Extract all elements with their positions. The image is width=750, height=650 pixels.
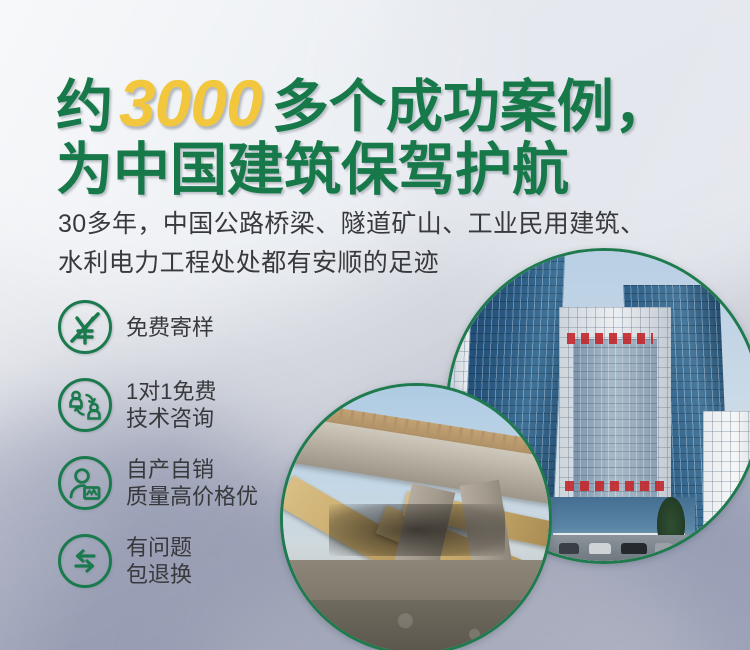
headline-prefix: 约 bbox=[56, 78, 113, 136]
feature-list: 免费寄样 1对1免费 技术咨询 bbox=[58, 296, 258, 592]
parked-car bbox=[559, 543, 579, 554]
feature-item-consulting: 1对1免费 技术咨询 bbox=[58, 374, 258, 436]
exchange-arrows-icon bbox=[58, 534, 112, 588]
headline-line-2: 为中国建筑保驾护航 bbox=[56, 140, 671, 200]
headline-number: 3000 bbox=[113, 74, 272, 132]
bridge-rubble bbox=[283, 600, 549, 650]
feature-line-2: 包退换 bbox=[126, 561, 192, 588]
building-adjacent-white bbox=[703, 411, 750, 539]
promo-banner: 约 3000 多个成功案例， 为中国建筑保驾护航 30多年，中国公路桥梁、隧道矿… bbox=[0, 0, 750, 650]
headline: 约 3000 多个成功案例， 为中国建筑保驾护航 bbox=[56, 74, 671, 200]
window-grid bbox=[703, 411, 750, 539]
feature-item-self-production: 自产自销 质量高价格优 bbox=[58, 452, 258, 514]
bridge-photo bbox=[280, 383, 552, 650]
feature-line-2: 技术咨询 bbox=[126, 405, 216, 432]
feature-line-1: 自产自销 bbox=[126, 457, 214, 482]
no-fee-yen-icon bbox=[58, 300, 112, 354]
parked-car bbox=[589, 543, 611, 554]
feature-item-returns: 有问题 包退换 bbox=[58, 530, 258, 592]
parked-car bbox=[621, 543, 647, 554]
feature-line-2: 质量高价格优 bbox=[126, 483, 258, 510]
feature-line-1: 有问题 bbox=[126, 535, 192, 560]
subtitle-line-1: 30多年，中国公路桥梁、隧道矿山、工业民用建筑、 bbox=[58, 205, 645, 244]
feature-label-consulting: 1对1免费 技术咨询 bbox=[126, 378, 216, 432]
headline-line-1: 约 3000 多个成功案例， bbox=[56, 74, 671, 136]
feature-label-returns: 有问题 包退换 bbox=[126, 534, 192, 588]
bridge-under-shadow bbox=[329, 504, 505, 556]
feature-label-free-sample: 免费寄样 bbox=[126, 314, 214, 341]
person-chart-icon bbox=[58, 456, 112, 510]
parked-car bbox=[655, 543, 673, 554]
feature-label-self-production: 自产自销 质量高价格优 bbox=[126, 456, 258, 510]
headline-suffix: 多个成功案例， bbox=[272, 78, 671, 136]
feature-line-1: 免费寄样 bbox=[126, 315, 214, 340]
feature-item-free-sample: 免费寄样 bbox=[58, 296, 258, 358]
feature-line-1: 1对1免费 bbox=[126, 379, 216, 404]
building-facade-red-sign bbox=[565, 481, 669, 491]
building-rooftop-red-sign bbox=[567, 333, 653, 344]
two-people-exchange-icon bbox=[58, 378, 112, 432]
